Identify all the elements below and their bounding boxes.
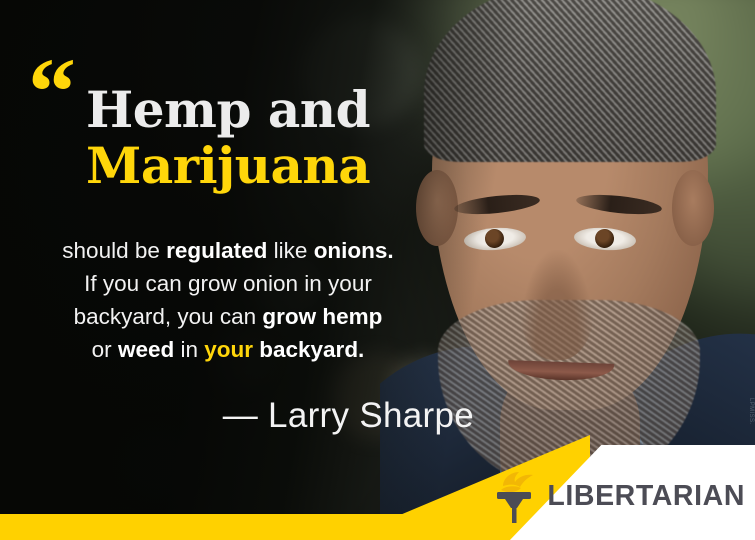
quote-line-2: If you can grow onion in your [22,267,434,300]
edge-watermark: LPMISS. [748,398,754,424]
quote-line-1: should be regulated like onions. [22,234,434,267]
quote-emphasis-grow-hemp: grow hemp [262,304,382,329]
open-quote-icon: “ [28,44,74,140]
quote-text-fragment: like [267,238,313,263]
quote-emphasis-backyard: backyard. [253,337,364,362]
quote-text-fragment: or [92,337,118,362]
quote-text-fragment: in [174,337,204,362]
quote-emphasis-your: your [204,337,253,362]
headline-line-2: Marijuana [86,138,426,194]
quote-line-3: backyard, you can grow hemp [22,300,434,333]
quote-body-text: should be regulated like onions. If you … [22,234,434,366]
logo-wordmark: LIBERTARIAN [547,482,745,511]
attribution-line: — Larry Sharpe [22,396,474,436]
libertarian-logo[interactable]: LIBERTARIAN [491,468,745,524]
torch-flame-icon [491,468,537,524]
quote-emphasis-onions: onions. [314,238,394,263]
quote-text-fragment: should be [62,238,166,263]
quote-emphasis-weed: weed [118,337,174,362]
headline-line-1: Hemp and [86,82,426,138]
quote-emphasis-regulated: regulated [166,238,267,263]
headline-block: Hemp and Marijuana [86,82,426,194]
quote-text-fragment: backyard, you can [74,304,263,329]
quote-line-4: or weed in your backyard. [22,333,434,366]
quote-poster: “ Hemp and Marijuana should be regulated… [0,0,755,540]
